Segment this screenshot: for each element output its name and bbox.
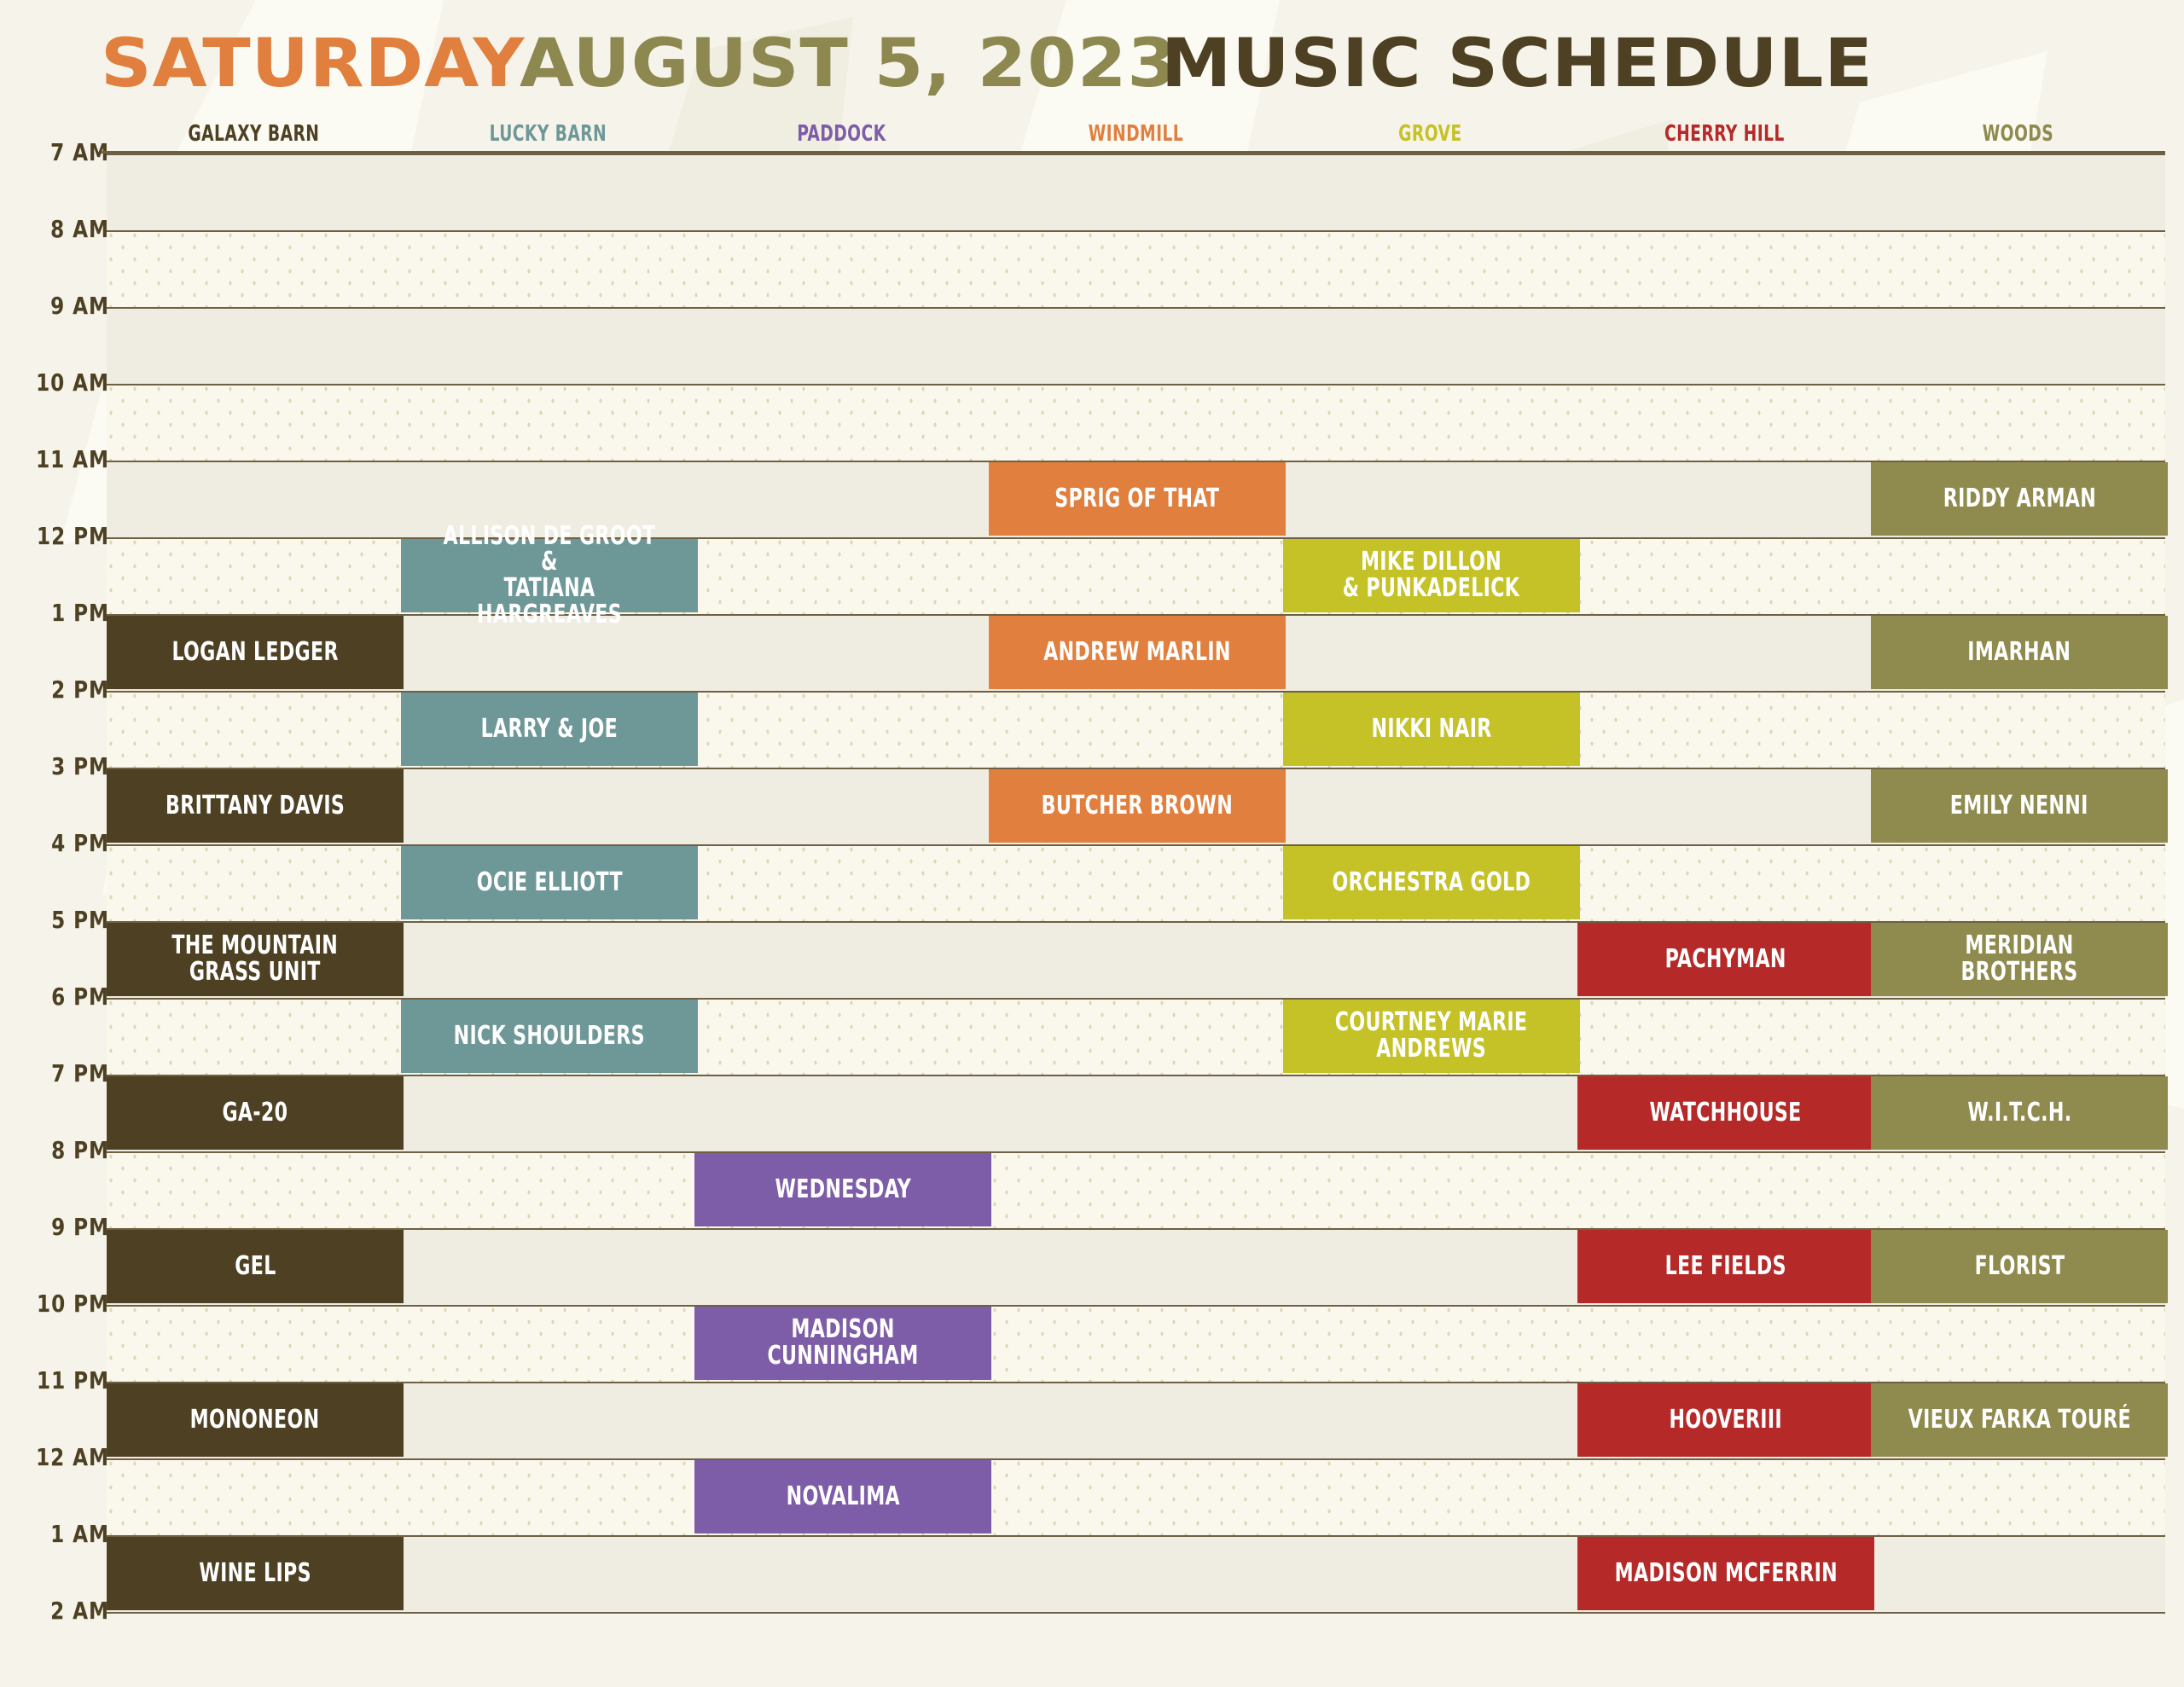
stage-header-paddock[interactable]: PADDOCK — [724, 121, 960, 147]
set-artist-name: LEE FIELDS — [1665, 1254, 1786, 1280]
stage-header-row: GALAXY BARNLUCKY BARNPADDOCKWINDMILLGROV… — [0, 121, 2184, 150]
set-block[interactable]: WINE LIPS — [107, 1537, 404, 1610]
set-block[interactable]: MONONEON — [107, 1383, 404, 1457]
set-block[interactable]: WATCHHOUSE — [1577, 1076, 1874, 1150]
set-artist-name: LARRY & JOE — [481, 716, 618, 743]
set-artist-name: GEL — [235, 1254, 276, 1280]
set-block[interactable]: LOGAN LEDGER — [107, 616, 404, 689]
title-date: AUGUST 5, 2023 — [520, 26, 1177, 102]
stage-header-cherry-hill[interactable]: CHERRY HILL — [1606, 121, 1842, 147]
set-block[interactable]: ANDREW MARLIN — [989, 616, 1286, 689]
set-block[interactable]: RIDDY ARMAN — [1871, 462, 2168, 536]
set-block[interactable]: COURTNEY MARIE ANDREWS — [1283, 1000, 1580, 1073]
set-block[interactable]: THE MOUNTAIN GRASS UNIT — [107, 923, 404, 996]
set-artist-name: BUTCHER BROWN — [1042, 793, 1233, 820]
set-artist-name: FLORIST — [1974, 1254, 2065, 1280]
stage-header-windmill[interactable]: WINDMILL — [1019, 121, 1254, 147]
set-block[interactable]: LEE FIELDS — [1577, 1230, 1874, 1303]
set-block[interactable]: NOVALIMA — [694, 1460, 991, 1533]
set-artist-name: HOOVERIII — [1670, 1407, 1782, 1434]
set-artist-name: GA-20 — [223, 1100, 288, 1127]
set-artist-name: W.I.T.C.H. — [1967, 1100, 2071, 1127]
set-block[interactable]: FLORIST — [1871, 1230, 2168, 1303]
set-block[interactable]: W.I.T.C.H. — [1871, 1076, 2168, 1150]
set-block[interactable]: MIKE DILLON & PUNKADELICK — [1283, 539, 1580, 612]
set-artist-name: COURTNEY MARIE ANDREWS — [1335, 1010, 1528, 1062]
set-artist-name: MONONEON — [190, 1407, 320, 1434]
set-artist-name: MERIDIAN BROTHERS — [1903, 933, 2135, 985]
set-artist-name: RIDDY ARMAN — [1943, 486, 2095, 513]
set-artist-name: NIKKI NAIR — [1371, 716, 1491, 743]
set-block[interactable]: LARRY & JOE — [401, 693, 698, 766]
set-block[interactable]: ALLISON DE GROOT & TATIANA HARGREAVES — [401, 539, 698, 612]
title-suffix: MUSIC SCHEDULE — [1161, 26, 1873, 102]
set-block[interactable]: MERIDIAN BROTHERS — [1871, 923, 2168, 996]
stage-header-lucky-barn[interactable]: LUCKY BARN — [430, 121, 665, 147]
set-artist-name: SPRIG OF THAT — [1054, 486, 1219, 513]
set-block[interactable]: VIEUX FARKA TOURÉ — [1871, 1383, 2168, 1457]
set-block[interactable]: MADISON MCFERRIN — [1577, 1537, 1874, 1610]
set-block[interactable]: BRITTANY DAVIS — [107, 769, 404, 843]
title-day: SATURDAY — [101, 26, 525, 102]
set-artist-name: THE MOUNTAIN GRASS UNIT — [172, 933, 339, 985]
set-artist-name: EMILY NENNI — [1950, 793, 2088, 820]
set-artist-name: MADISON MCFERRIN — [1614, 1561, 1837, 1587]
set-block[interactable]: OCIE ELLIOTT — [401, 846, 698, 919]
set-block[interactable]: EMILY NENNI — [1871, 769, 2168, 843]
set-block[interactable]: NIKKI NAIR — [1283, 693, 1580, 766]
set-artist-name: BRITTANY DAVIS — [166, 793, 345, 820]
page-title: SATURDAYAUGUST 5, 2023MUSIC SCHEDULE — [101, 26, 1833, 102]
set-artist-name: NOVALIMA — [786, 1484, 899, 1510]
set-artist-name: IMARHAN — [1968, 640, 2071, 666]
set-block[interactable]: GEL — [107, 1230, 404, 1303]
set-block[interactable]: SPRIG OF THAT — [989, 462, 1286, 536]
set-block[interactable]: WEDNESDAY — [694, 1153, 991, 1226]
set-artist-name: ORCHESTRA GOLD — [1333, 870, 1531, 896]
set-block[interactable]: PACHYMAN — [1577, 923, 1874, 996]
set-block[interactable]: IMARHAN — [1871, 616, 2168, 689]
stage-header-galaxy-barn[interactable]: GALAXY BARN — [136, 121, 371, 147]
set-artist-name: ANDREW MARLIN — [1043, 640, 1231, 666]
set-artist-name: MIKE DILLON & PUNKADELICK — [1343, 549, 1519, 601]
set-artist-name: WEDNESDAY — [775, 1177, 911, 1203]
stage-header-grove[interactable]: GROVE — [1312, 121, 1548, 147]
set-artist-name: OCIE ELLIOTT — [476, 870, 622, 896]
set-artist-name: ALLISON DE GROOT & TATIANA HARGREAVES — [433, 524, 665, 628]
set-artist-name: WINE LIPS — [199, 1561, 311, 1587]
set-artist-name: LOGAN LEDGER — [171, 640, 338, 666]
set-block[interactable]: MADISON CUNNINGHAM — [694, 1307, 991, 1380]
set-block[interactable]: ORCHESTRA GOLD — [1283, 846, 1580, 919]
set-block[interactable]: GA-20 — [107, 1076, 404, 1150]
set-artist-name: PACHYMAN — [1665, 947, 1786, 973]
set-blocks-layer: SPRIG OF THATRIDDY ARMANALLISON DE GROOT… — [0, 154, 2184, 1638]
set-block[interactable]: NICK SHOULDERS — [401, 1000, 698, 1073]
set-artist-name: MADISON CUNNINGHAM — [767, 1317, 918, 1369]
set-artist-name: VIEUX FARKA TOURÉ — [1908, 1407, 2130, 1434]
header-divider — [101, 151, 2165, 154]
stage-header-woods[interactable]: WOODS — [1901, 121, 2136, 147]
set-block[interactable]: HOOVERIII — [1577, 1383, 1874, 1457]
set-artist-name: WATCHHOUSE — [1650, 1100, 1802, 1127]
set-block[interactable]: BUTCHER BROWN — [989, 769, 1286, 843]
set-artist-name: NICK SHOULDERS — [454, 1023, 645, 1050]
